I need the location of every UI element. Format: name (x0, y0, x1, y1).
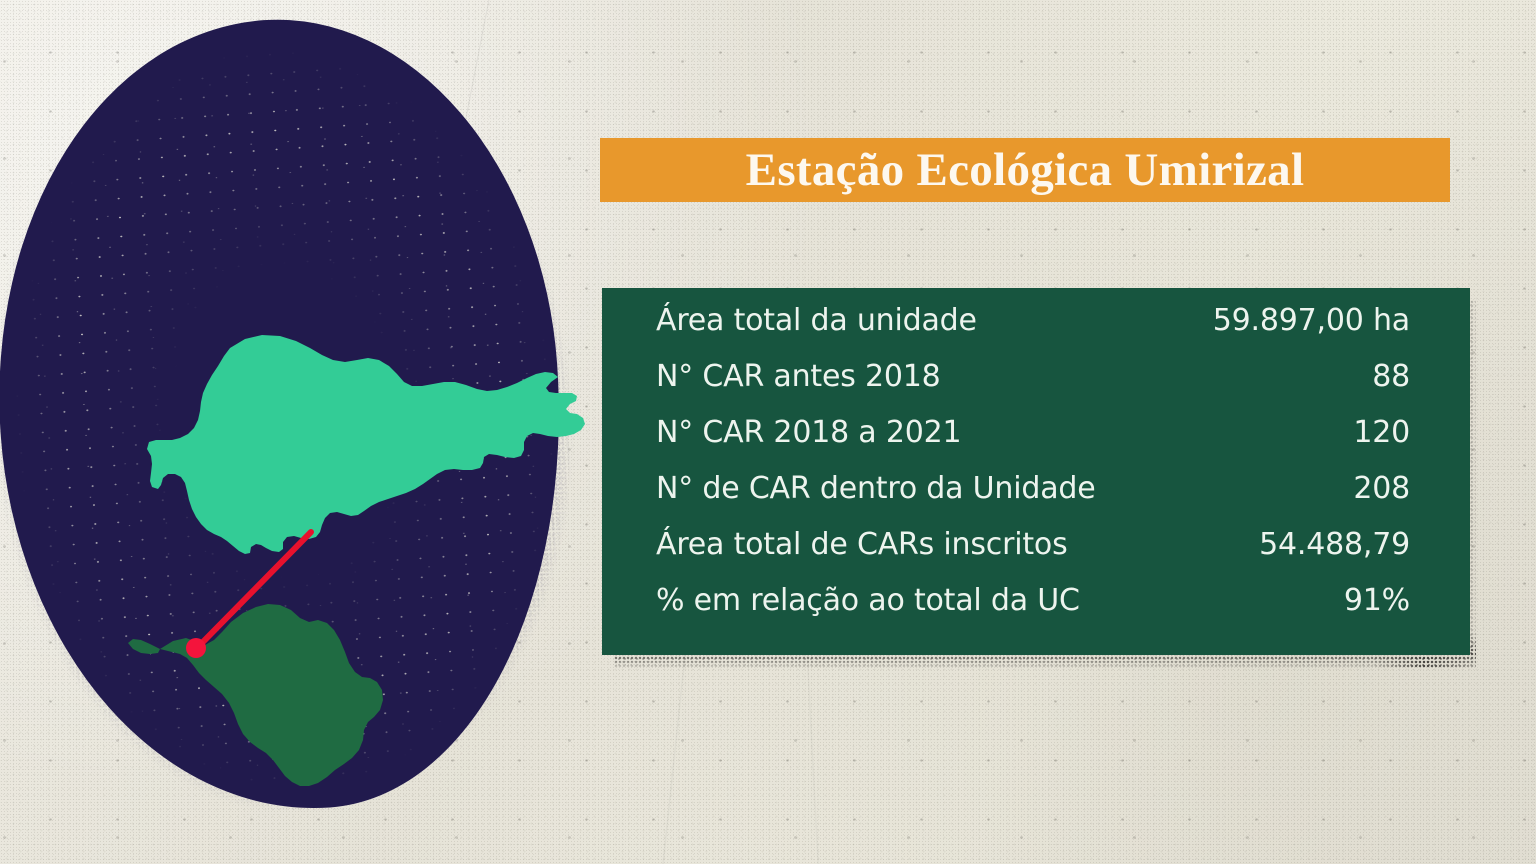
stat-label: Área total da unidade (656, 303, 977, 338)
table-row: N° CAR antes 2018 88 (656, 359, 1410, 415)
table-row: % em relação ao total da UC 91% (656, 583, 1410, 639)
table-row: N° de CAR dentro da Unidade 208 (656, 471, 1410, 527)
stat-value: 88 (1372, 359, 1410, 394)
slide-canvas: Estação Ecológica Umirizal Área total da… (0, 0, 1536, 864)
stat-value: 91% (1344, 583, 1410, 618)
stat-label: N° de CAR dentro da Unidade (656, 471, 1096, 506)
title-banner: Estação Ecológica Umirizal (600, 138, 1450, 202)
stat-value: 59.897,00 ha (1213, 303, 1410, 338)
stats-table: Área total da unidade 59.897,00 ha N° CA… (602, 288, 1470, 655)
stat-label: N° CAR antes 2018 (656, 359, 941, 394)
stat-label: N° CAR 2018 a 2021 (656, 415, 961, 450)
stat-value: 120 (1353, 415, 1410, 450)
stat-value: 54.488,79 (1259, 527, 1410, 562)
stat-label: % em relação ao total da UC (656, 583, 1080, 618)
stats-panel: Área total da unidade 59.897,00 ha N° CA… (602, 288, 1470, 655)
stat-label: Área total de CARs inscritos (656, 527, 1068, 562)
table-row: Área total da unidade 59.897,00 ha (656, 303, 1410, 359)
navy-blob (0, 0, 700, 864)
table-row: Área total de CARs inscritos 54.488,79 (656, 527, 1410, 583)
page-title: Estação Ecológica Umirizal (746, 147, 1305, 194)
stat-value: 208 (1353, 471, 1410, 506)
table-row: N° CAR 2018 a 2021 120 (656, 415, 1410, 471)
